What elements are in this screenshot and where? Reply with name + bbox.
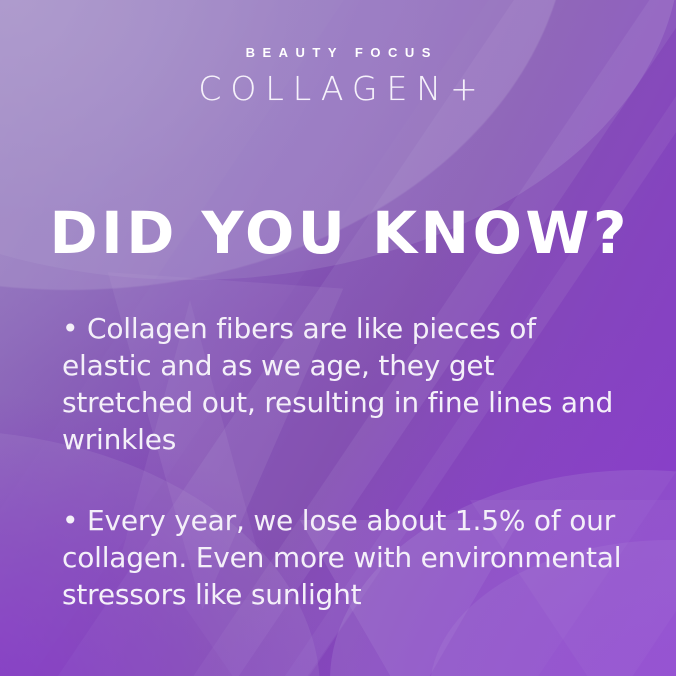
page-title: DID YOU KNOW? <box>0 204 676 262</box>
brand-eyebrow-text: BEAUTY FOCUS <box>0 46 676 59</box>
body-paragraph: • Every year, we lose about 1.5% of our … <box>62 502 628 613</box>
brand-logo-lockup: BEAUTY FOCUS COLLAGEN+ <box>0 46 676 105</box>
body-paragraph: • Collagen fibers are like pieces of ela… <box>62 310 628 458</box>
poster-content: BEAUTY FOCUS COLLAGEN+ DID YOU KNOW? • C… <box>0 0 676 676</box>
poster-canvas: BEAUTY FOCUS COLLAGEN+ DID YOU KNOW? • C… <box>0 0 676 676</box>
body-copy: • Collagen fibers are like pieces of ela… <box>62 310 628 613</box>
brand-wordmark-text: COLLAGEN+ <box>0 72 676 105</box>
